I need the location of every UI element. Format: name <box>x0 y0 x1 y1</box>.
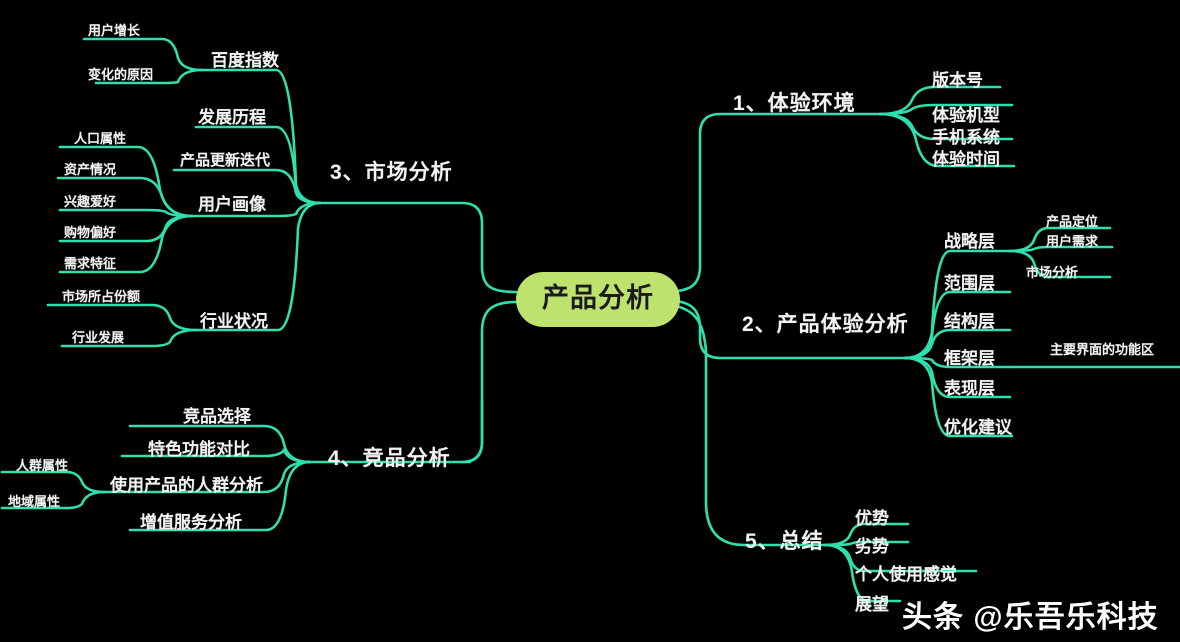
child-node-b2-2[interactable]: 范围层 <box>944 275 995 292</box>
edge-b2-c1 <box>905 251 1010 358</box>
child-node-b2-6[interactable]: 优化建议 <box>944 419 1012 436</box>
child-node-b4-1[interactable]: 竞品选择 <box>183 408 251 425</box>
edge-baidu-g1 <box>84 39 202 70</box>
grandchild-node-huaxiang-1[interactable]: 人口属性 <box>74 132 126 145</box>
grandchild-node-hangye-1[interactable]: 市场所占份额 <box>62 290 140 303</box>
grandchild-node-huaxiang-2[interactable]: 资产情况 <box>64 163 116 176</box>
grandchild-node-zhanluo-3[interactable]: 市场分析 <box>1026 266 1078 279</box>
edge-root-b5 <box>662 304 825 545</box>
child-node-b3-3[interactable]: 产品更新迭代 <box>180 153 270 168</box>
edge-renqun-g1 <box>2 472 104 492</box>
child-node-b5-1[interactable]: 优势 <box>855 510 889 527</box>
branch-node-b5[interactable]: 5、总结 <box>745 531 824 552</box>
edge-root-b1 <box>662 114 880 292</box>
grandchild-node-kuangjia-1[interactable]: 主要界面的功能区 <box>1050 343 1154 356</box>
child-node-b2-4[interactable]: 框架层 <box>944 350 995 367</box>
mindmap-canvas: 产品分析 1、体验环境 版本号 体验机型 手机系统 体验时间 2、产品体验分析 … <box>0 0 1180 642</box>
branch-node-b2[interactable]: 2、产品体验分析 <box>742 314 909 335</box>
child-node-b1-3[interactable]: 手机系统 <box>932 129 1000 146</box>
branch-node-b1[interactable]: 1、体验环境 <box>733 93 856 114</box>
child-node-b2-1[interactable]: 战略层 <box>944 233 995 250</box>
grandchild-node-baidu-2[interactable]: 变化的原因 <box>88 68 153 81</box>
branch-node-b3[interactable]: 3、市场分析 <box>330 162 453 183</box>
grandchild-node-huaxiang-4[interactable]: 购物偏好 <box>64 226 116 239</box>
edge-root-b4-stub <box>462 302 516 462</box>
grandchild-node-huaxiang-5[interactable]: 需求特征 <box>64 257 116 270</box>
child-node-b3-5[interactable]: 行业状况 <box>200 313 268 330</box>
child-node-b4-3[interactable]: 使用产品的人群分析 <box>110 477 263 494</box>
child-node-b2-3[interactable]: 结构层 <box>944 313 995 330</box>
grandchild-node-zhanluo-1[interactable]: 产品定位 <box>1046 215 1098 228</box>
child-node-b5-2[interactable]: 劣势 <box>855 538 889 555</box>
grandchild-node-hangye-2[interactable]: 行业发展 <box>72 331 124 344</box>
child-node-b3-1[interactable]: 百度指数 <box>211 52 279 69</box>
edge-root-b3 <box>320 203 516 292</box>
edge-hangye-g1 <box>48 305 196 330</box>
grandchild-node-renqun-2[interactable]: 地域属性 <box>8 495 60 508</box>
child-node-b5-3[interactable]: 个人使用感觉 <box>855 566 957 583</box>
grandchild-node-huaxiang-3[interactable]: 兴趣爱好 <box>64 195 116 208</box>
child-node-b3-4[interactable]: 用户画像 <box>198 196 266 213</box>
edge-b3-c1 <box>202 70 320 203</box>
grandchild-node-renqun-1[interactable]: 人群属性 <box>16 459 68 472</box>
child-node-b3-2[interactable]: 发展历程 <box>198 109 266 126</box>
child-node-b4-4[interactable]: 增值服务分析 <box>140 514 242 531</box>
branch-node-b4[interactable]: 4、竞品分析 <box>328 448 451 469</box>
grandchild-node-zhanluo-2[interactable]: 用户需求 <box>1046 235 1098 248</box>
root-node[interactable]: 产品分析 <box>516 272 680 327</box>
watermark-label: 头条 @乐吾乐科技 <box>902 592 1159 636</box>
child-node-b1-2[interactable]: 体验机型 <box>932 107 1000 124</box>
grandchild-node-baidu-1[interactable]: 用户增长 <box>88 24 140 37</box>
child-node-b1-4[interactable]: 体验时间 <box>932 151 1000 168</box>
child-node-b5-4[interactable]: 展望 <box>855 596 889 613</box>
edge-b3-c5 <box>196 203 320 330</box>
child-node-b1-1[interactable]: 版本号 <box>932 72 983 89</box>
child-node-b2-5[interactable]: 表现层 <box>944 380 995 397</box>
child-node-b4-2[interactable]: 特色功能对比 <box>148 441 250 458</box>
